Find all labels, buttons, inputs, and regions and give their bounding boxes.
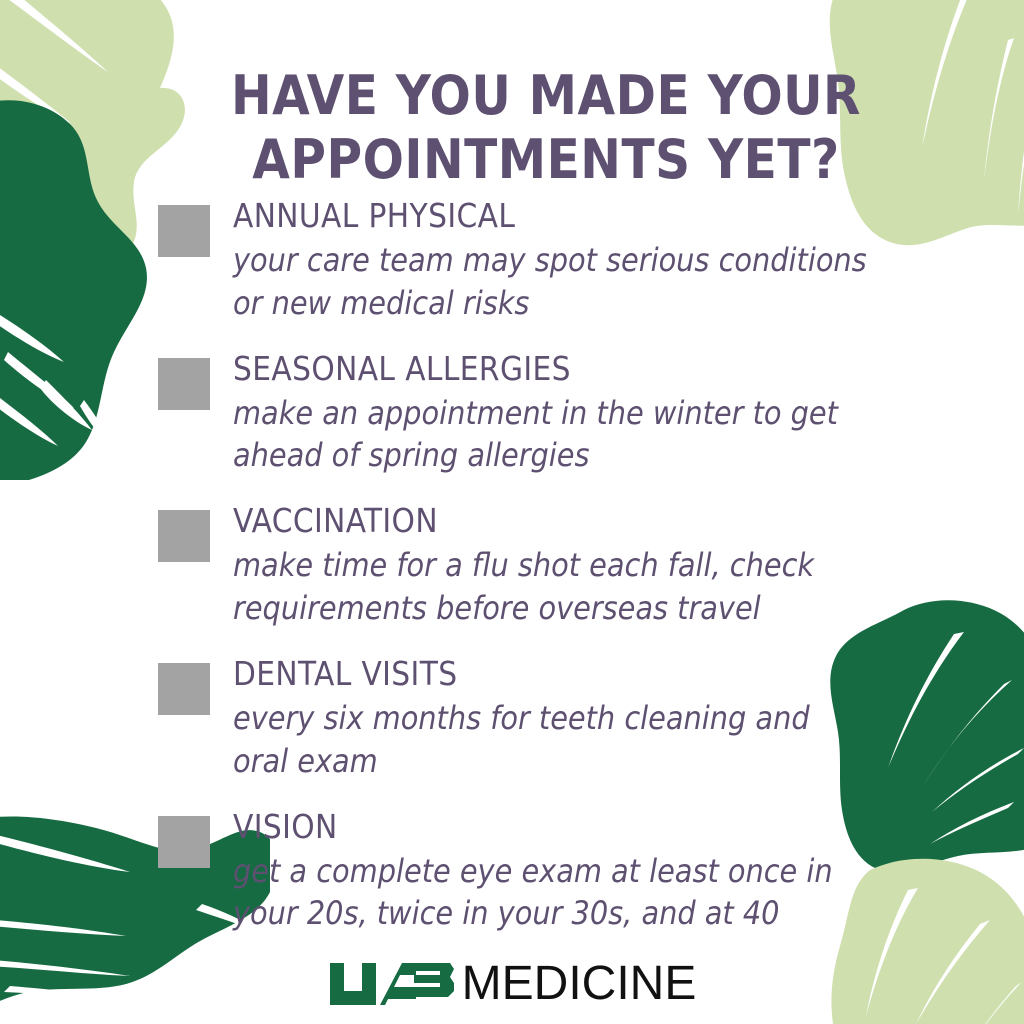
list-item: VACCINATION make time for a flu shot eac… — [158, 501, 958, 630]
list-item: ANNUAL PHYSICAL your care team may spot … — [158, 196, 958, 325]
checkbox-square-icon — [158, 663, 210, 715]
uab-logo-mark-icon — [328, 961, 456, 1007]
list-item-description-line-2: or new medical risks — [233, 282, 958, 325]
list-item-description: get a complete eye exam at least once in… — [233, 850, 958, 936]
list-item-description-line-2: your 20s, twice in your 30s, and at 40 — [233, 892, 958, 935]
list-item-description-line-1: get a complete eye exam at least once in — [233, 850, 958, 893]
checkbox-square-icon — [158, 358, 210, 410]
checkbox-square-icon — [158, 205, 210, 257]
list-item-title: ANNUAL PHYSICAL — [233, 196, 958, 237]
list-item-title: DENTAL VISITS — [233, 654, 958, 695]
list-item-description-line-1: make an appointment in the winter to get — [233, 392, 958, 435]
list-item-description-line-2: ahead of spring allergies — [233, 434, 958, 477]
list-item-title: VACCINATION — [233, 501, 958, 542]
list-item-description: every six months for teeth cleaning and … — [233, 697, 958, 783]
uab-medicine-logo: MEDICINE — [0, 960, 1024, 1008]
list-item-title: SEASONAL ALLERGIES — [233, 349, 958, 390]
list-item-description: make time for a flu shot each fall, chec… — [233, 544, 958, 630]
checkbox-square-icon — [158, 510, 210, 562]
list-item: DENTAL VISITS every six months for teeth… — [158, 654, 958, 783]
logo-wordmark: MEDICINE — [462, 960, 697, 1008]
list-item-description-line-1: make time for a flu shot each fall, chec… — [233, 544, 958, 587]
list-item-description-line-1: every six months for teeth cleaning and — [233, 697, 958, 740]
list-item-title: VISION — [233, 807, 958, 848]
checkbox-square-icon — [158, 816, 210, 868]
page-title-line-1: HAVE YOU MADE YOUR — [186, 64, 906, 128]
list-item-description-line-2: requirements before overseas travel — [233, 587, 958, 630]
list-item-description-line-2: oral exam — [233, 740, 958, 783]
appointment-checklist: ANNUAL PHYSICAL your care team may spot … — [158, 196, 958, 959]
list-item: VISION get a complete eye exam at least … — [158, 807, 958, 936]
list-item: SEASONAL ALLERGIES make an appointment i… — [158, 349, 958, 478]
page-title: HAVE YOU MADE YOUR APPOINTMENTS YET? — [186, 64, 906, 191]
list-item-description: your care team may spot serious conditio… — [233, 239, 958, 325]
page-title-line-2: APPOINTMENTS YET? — [186, 128, 906, 192]
list-item-description: make an appointment in the winter to get… — [233, 392, 958, 478]
list-item-description-line-1: your care team may spot serious conditio… — [233, 239, 958, 282]
poster-canvas: HAVE YOU MADE YOUR APPOINTMENTS YET? ANN… — [0, 0, 1024, 1024]
